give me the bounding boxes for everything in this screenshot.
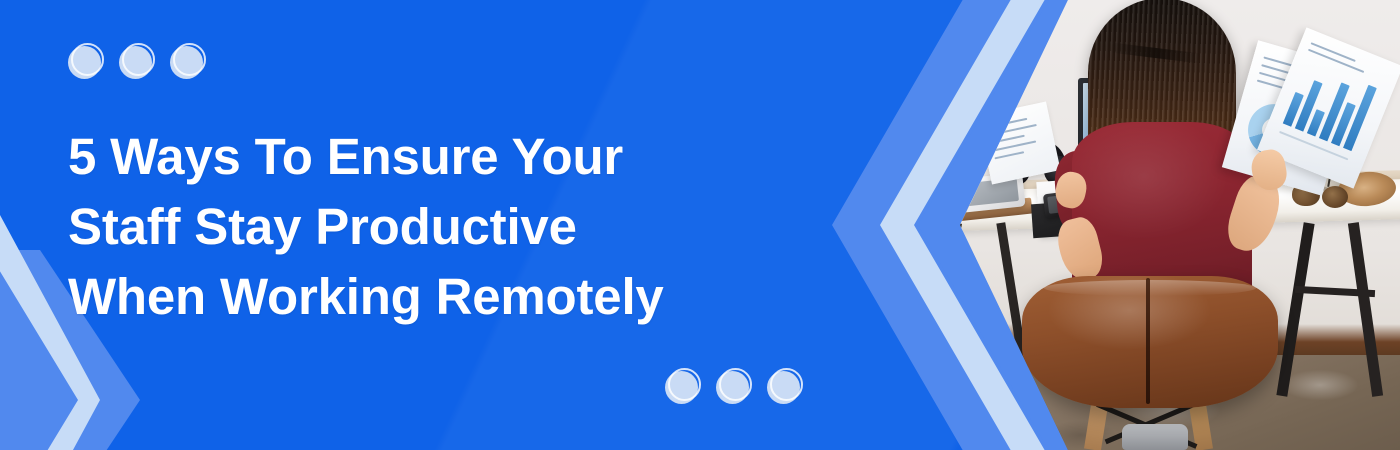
- stool-seam: [1146, 278, 1150, 404]
- page-title: 5 Ways To Ensure Your Staff Stay Product…: [68, 122, 768, 332]
- pine-cone-decor: [1322, 186, 1348, 208]
- circle-icon: [716, 368, 752, 404]
- feet: [1122, 424, 1188, 450]
- stool-highlight: [1044, 280, 1256, 296]
- circle-icon: [767, 368, 803, 404]
- circle-icon: [68, 43, 104, 79]
- promotional-banner: 5 Ways To Ensure Your Staff Stay Product…: [0, 0, 1400, 450]
- circle-icon: [119, 43, 155, 79]
- circle-icon: [170, 43, 206, 79]
- bottom-center-dots: [665, 368, 803, 404]
- circle-icon: [665, 368, 701, 404]
- top-left-dots: [68, 43, 206, 79]
